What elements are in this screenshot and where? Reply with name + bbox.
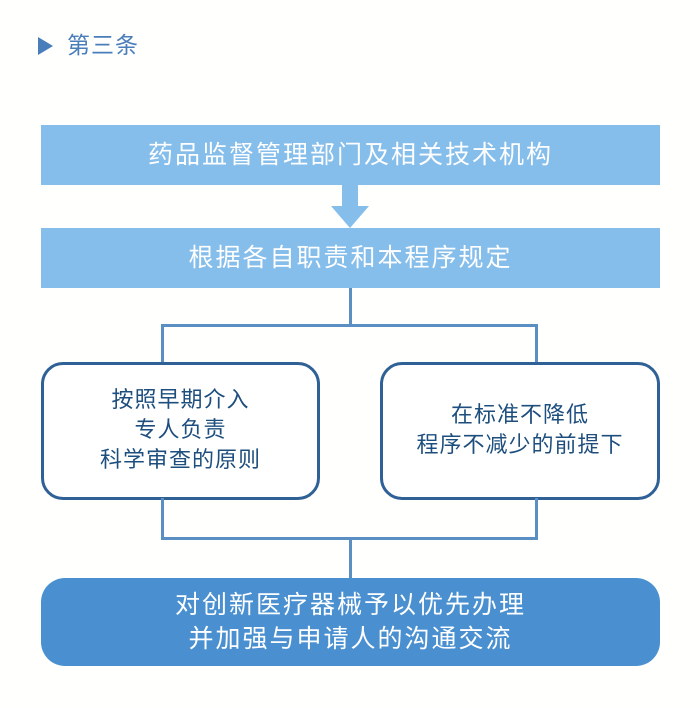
- connector-merge-left: [161, 498, 164, 540]
- flow-node-result: 对创新医疗器械予以优先办理 并加强与申请人的沟通交流: [41, 578, 660, 666]
- flow-node-premise: 在标准不降低 程序不减少的前提下: [380, 362, 660, 500]
- flowchart-canvas: 第三条 药品监督管理部门及相关技术机构 根据各自职责和本程序规定 按照早期介入 …: [0, 0, 700, 707]
- connector-merge-right: [535, 498, 538, 540]
- flow-node-premise-label: 在标准不降低 程序不减少的前提下: [416, 401, 623, 460]
- flow-node-result-label: 对创新医疗器械予以优先办理 并加强与申请人的沟通交流: [175, 588, 526, 656]
- arrow-head: [331, 206, 369, 228]
- arrow-down-icon: [331, 185, 369, 228]
- connector-split-left: [161, 324, 164, 364]
- triangle-right-icon: [38, 37, 53, 55]
- connector-split-cross: [161, 324, 538, 327]
- flow-node-duties: 根据各自职责和本程序规定: [41, 228, 660, 288]
- flow-node-authority-label: 药品监督管理部门及相关技术机构: [148, 140, 553, 170]
- flow-node-principle: 按照早期介入 专人负责 科学审查的原则: [41, 362, 320, 500]
- flow-node-principle-label: 按照早期介入 专人负责 科学审查的原则: [100, 386, 261, 475]
- section-header: 第三条: [38, 28, 139, 64]
- flow-node-duties-label: 根据各自职责和本程序规定: [188, 243, 512, 273]
- connector-split-stem: [349, 288, 352, 326]
- connector-merge-stem: [349, 537, 352, 581]
- connector-split-right: [535, 324, 538, 364]
- page-title: 第三条: [67, 35, 139, 58]
- flow-node-authority: 药品监督管理部门及相关技术机构: [41, 125, 660, 185]
- arrow-shaft: [342, 185, 358, 207]
